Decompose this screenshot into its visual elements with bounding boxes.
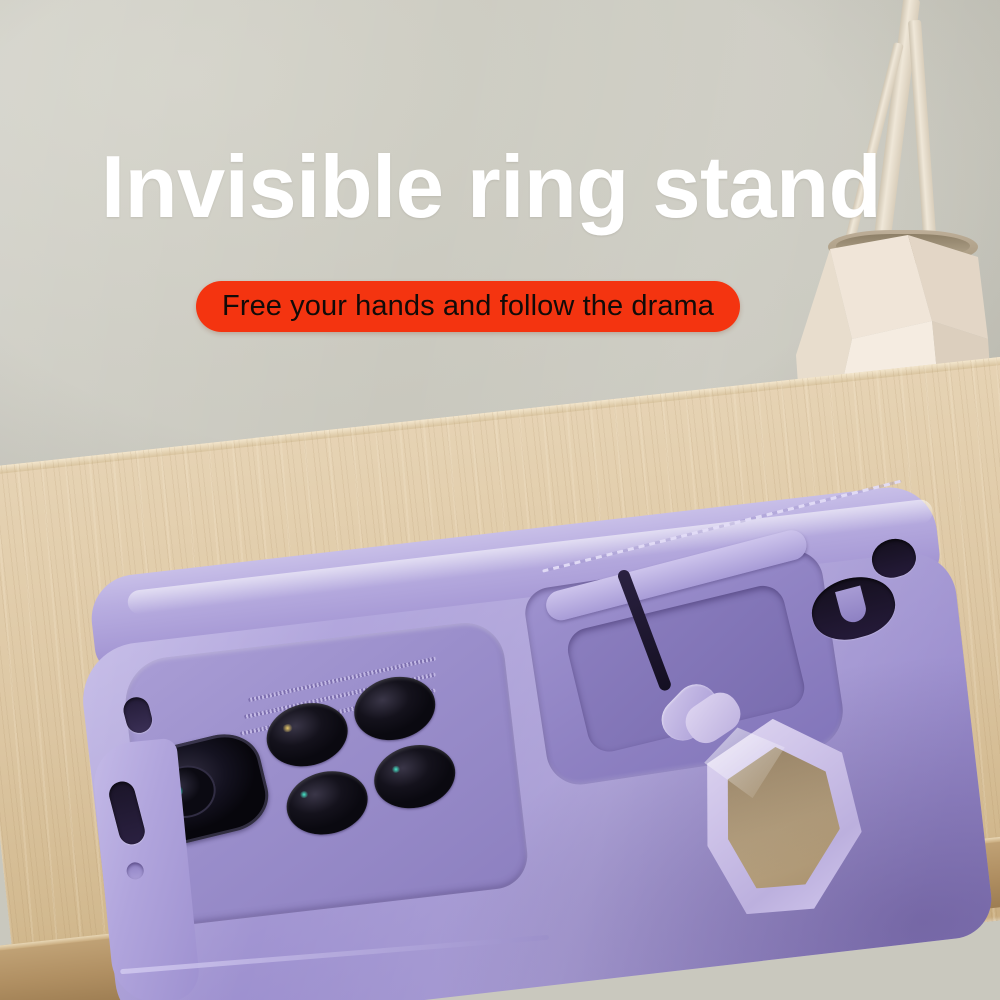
subtitle-banner-text: Free your hands and follow the drama [222,292,714,321]
lens-gold-flare [281,723,294,733]
subtitle-banner: Free your hands and follow the drama [196,281,740,332]
invisible-ring-stand [682,683,919,948]
product-promo-image: Invisible ring stand Free your hands and… [0,0,1000,1000]
lens-flare [391,765,401,774]
lens-flare [299,790,309,799]
page-title: Invisible ring stand [101,143,968,231]
